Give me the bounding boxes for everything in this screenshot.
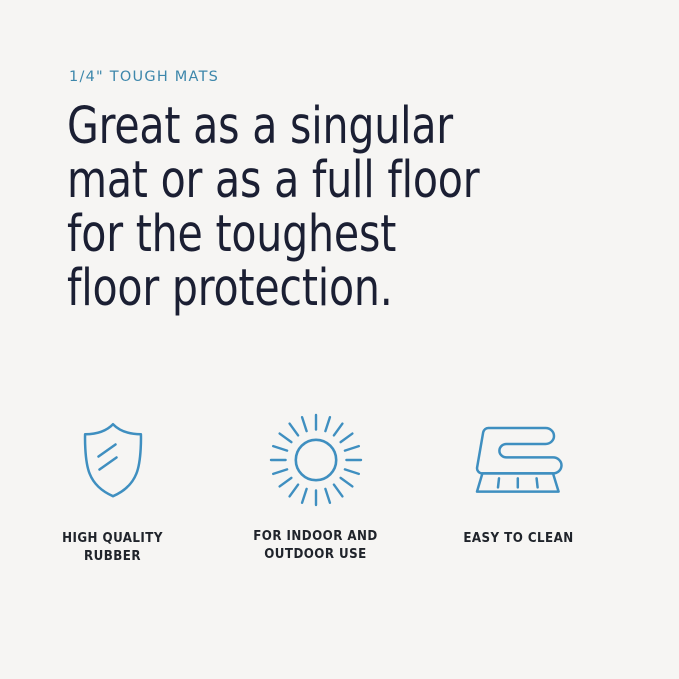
heading-line-4: floor protection. xyxy=(67,262,532,316)
feature-caption: EASY TO CLEAN xyxy=(463,530,573,548)
feature-caption: HIGH QUALITY RUBBER xyxy=(62,530,163,565)
shield-icon xyxy=(82,408,144,512)
promo-panel: 1/4" TOUGH MATS Great as a singular mat … xyxy=(0,0,679,679)
feature-item-high-quality-rubber: HIGH QUALITY RUBBER xyxy=(11,408,214,565)
heading-line-2: mat or as a full floor xyxy=(67,154,532,208)
feature-item-easy-to-clean: EASY TO CLEAN xyxy=(417,408,620,548)
feature-item-indoor-outdoor-use: FOR INDOOR AND OUTDOOR USE xyxy=(214,408,417,563)
scrub-brush-icon xyxy=(473,408,565,512)
sun-icon xyxy=(269,408,363,512)
feature-list: HIGH QUALITY RUBBER xyxy=(0,408,679,565)
feature-caption: FOR INDOOR AND OUTDOOR USE xyxy=(253,528,378,563)
heading-line-1: Great as a singular xyxy=(67,100,532,154)
eyebrow-label: 1/4" TOUGH MATS xyxy=(69,69,219,85)
page-title: Great as a singular mat or as a full flo… xyxy=(67,100,532,316)
heading-line-3: for the toughest xyxy=(67,208,532,262)
